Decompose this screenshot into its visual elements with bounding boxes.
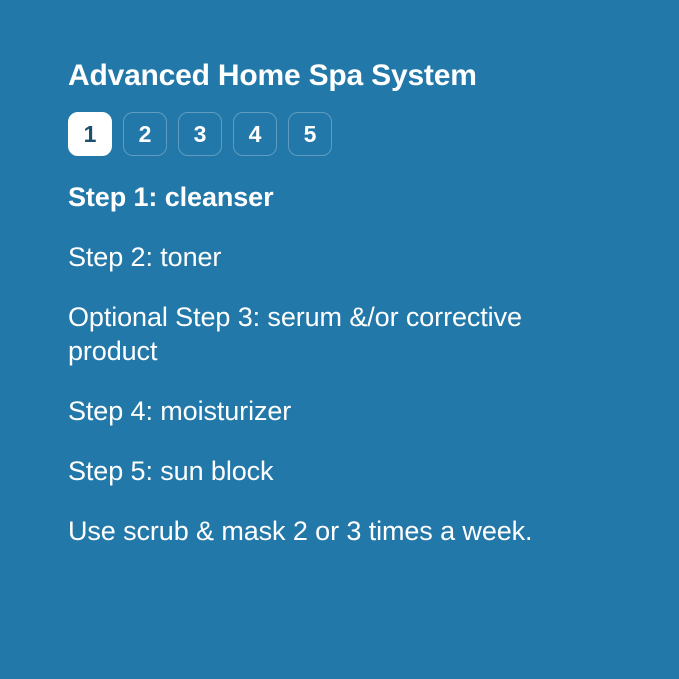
step-badge-4-label: 4	[249, 121, 262, 148]
step-item-1: Step 1: cleanser	[68, 180, 573, 214]
step-nav: 1 2 3 4 5	[68, 112, 611, 156]
spa-system-card: Advanced Home Spa System 1 2 3 4 5 Step …	[0, 0, 679, 679]
step-badge-2-label: 2	[139, 121, 152, 148]
step-badge-3[interactable]: 3	[178, 112, 222, 156]
steps-list: Step 1: cleanser Step 2: toner Optional …	[68, 180, 611, 548]
step-badge-5-label: 5	[304, 121, 317, 148]
step-badge-3-label: 3	[194, 121, 207, 148]
step-badge-4[interactable]: 4	[233, 112, 277, 156]
step-item-4: Step 4: moisturizer	[68, 394, 573, 428]
step-item-5: Step 5: sun block	[68, 454, 573, 488]
page-title: Advanced Home Spa System	[68, 58, 611, 94]
usage-note: Use scrub & mask 2 or 3 times a week.	[68, 514, 588, 548]
step-item-3: Optional Step 3: serum &/or corrective p…	[68, 300, 573, 368]
step-badge-1[interactable]: 1	[68, 112, 112, 156]
step-badge-2[interactable]: 2	[123, 112, 167, 156]
step-badge-1-label: 1	[84, 121, 97, 148]
step-badge-5[interactable]: 5	[288, 112, 332, 156]
step-item-2: Step 2: toner	[68, 240, 573, 274]
